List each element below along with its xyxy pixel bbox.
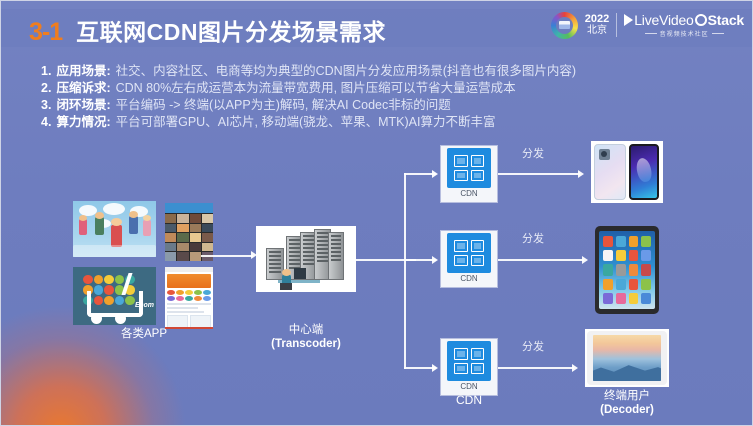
ecom-caption: Ecom xyxy=(135,302,154,309)
phone-front-view xyxy=(629,144,659,200)
operator-at-desk-figure xyxy=(278,268,320,290)
shopping-app-screenshot xyxy=(165,267,213,329)
center-label-en: (Transcoder) xyxy=(271,338,341,350)
connector-cdn3-to-device xyxy=(498,367,574,369)
ipad-body xyxy=(587,331,667,385)
tablet-image xyxy=(595,226,659,314)
connector-fanout-vertical xyxy=(404,173,406,369)
brand-stack: Stack xyxy=(708,12,744,28)
cdn-grid-icon xyxy=(447,233,491,273)
cdn-node-1[interactable]: CDN xyxy=(441,146,497,202)
bullet-key: 算力情况: xyxy=(56,114,110,131)
tablet-screen xyxy=(599,231,655,309)
bullet-key: 应用场景: xyxy=(56,63,110,80)
phone-back-view xyxy=(594,144,626,200)
ecommerce-cart-illustration: Ecom xyxy=(73,267,156,325)
section-number: 3-1 xyxy=(29,18,62,47)
bullet-value: 社交、内容社区、电商等均为典型的CDN图片分发应用场景(抖音也有很多图片内容) xyxy=(116,63,576,80)
bullet-index: 2. xyxy=(41,80,51,97)
livevideostack-logo: LiveVideo Stack 音视频技术社区 xyxy=(624,12,744,38)
bullet-index: 1. xyxy=(41,63,51,80)
app-tile-group: Ecom xyxy=(73,201,213,326)
conference-logo: 2022 北京 LiveVideo Stack 音视频技术社区 xyxy=(551,10,744,40)
arrow-cdn2-to-device xyxy=(582,256,588,264)
cdn-node-3[interactable]: CDN xyxy=(441,339,497,395)
bullet-list: 1. 应用场景: 社交、内容社区、电商等均为典型的CDN图片分发应用场景(抖音也… xyxy=(41,63,731,131)
architecture-diagram: Ecom 各类APP xyxy=(1,131,753,426)
cdn-caption: CDN xyxy=(460,189,477,198)
arrow-to-cdn-3 xyxy=(432,364,438,372)
bullet-value: 平台编码 -> 终端(以APP为主)解码, 解决AI Codec非标的问题 xyxy=(116,97,451,114)
brand-dot-icon xyxy=(695,14,707,26)
brand-sub-dash-left xyxy=(645,33,657,34)
bullet-key: 压缩诉求: xyxy=(56,80,110,97)
ipad-screen xyxy=(593,335,661,381)
distribute-label-2: 分发 xyxy=(522,230,544,246)
connector-cdn1-to-device xyxy=(498,173,580,175)
source-label: 各类APP xyxy=(89,327,199,341)
center-label-cn: 中心端 xyxy=(251,323,361,337)
bullet-item: 2. 压缩诉求: CDN 80%左右成运营本为流量带宽费用, 图片压缩可以节省大… xyxy=(41,80,731,97)
social-people-illustration xyxy=(73,201,156,257)
page-title: 3-1 互联网CDN图片分发场景需求 xyxy=(29,13,386,47)
center-label: 中心端 (Transcoder) xyxy=(251,323,361,351)
conference-city: 北京 xyxy=(587,26,607,37)
cart-wheel-left xyxy=(91,313,102,324)
conference-ring-icon xyxy=(551,12,578,39)
phone-camera-icon xyxy=(599,149,610,160)
connector-apps-to-center xyxy=(201,255,253,257)
endpoint-label-cn: 终端用户 xyxy=(579,389,675,403)
distribute-label-3: 分发 xyxy=(522,338,544,354)
cdn-grid-icon xyxy=(447,148,491,188)
arrow-cdn3-to-device xyxy=(572,364,578,372)
bullet-item: 4. 算力情况: 平台可部署GPU、AI芯片, 移动端(骁龙、苹果、MTK)AI… xyxy=(41,114,731,131)
arrow-to-cdn-1 xyxy=(432,170,438,178)
cdn-node-2[interactable]: CDN xyxy=(441,231,497,287)
smartphone-pair-image xyxy=(591,141,663,203)
bullet-key: 闭环场景: xyxy=(56,97,110,114)
connector-cdn2-to-device xyxy=(498,259,584,261)
play-triangle-icon xyxy=(624,14,633,26)
conference-year: 2022 xyxy=(585,14,609,26)
cdn-node-3-outer-label: CDN xyxy=(434,393,504,407)
ipad-image xyxy=(585,329,669,387)
title-text: 互联网CDN图片分发场景需求 xyxy=(76,13,386,47)
photo-grid-screenshot xyxy=(165,203,213,261)
arrow-to-cdn-2 xyxy=(432,256,438,264)
endpoint-label: 终端用户 (Decoder) xyxy=(579,389,675,417)
endpoint-label-en: (Decoder) xyxy=(600,404,654,416)
slide-canvas: 3-1 互联网CDN图片分发场景需求 2022 北京 LiveVideo Sta… xyxy=(0,0,753,426)
distribute-label-1: 分发 xyxy=(522,145,544,161)
bullet-index: 4. xyxy=(41,114,51,131)
brand-live: LiveVideo xyxy=(634,12,693,28)
cdn-grid-icon xyxy=(447,341,491,381)
bullet-index: 3. xyxy=(41,97,51,114)
cdn-caption: CDN xyxy=(460,274,477,283)
bullet-value: 平台可部署GPU、AI芯片, 移动端(骁龙、苹果、MTK)AI算力不断丰富 xyxy=(116,114,496,131)
cart-wheel-right xyxy=(115,313,126,324)
bullet-value: CDN 80%左右成运营本为流量带宽费用, 图片压缩可以节省大量运营成本 xyxy=(116,80,516,97)
bullet-item: 1. 应用场景: 社交、内容社区、电商等均为典型的CDN图片分发应用场景(抖音也… xyxy=(41,63,731,80)
conference-year-block: 2022 北京 xyxy=(585,14,609,36)
bullet-item: 3. 闭环场景: 平台编码 -> 终端(以APP为主)解码, 解决AI Code… xyxy=(41,97,731,114)
brand-subtitle: 音视频技术社区 xyxy=(660,29,709,38)
cdn-caption: CDN xyxy=(460,382,477,391)
transcoder-server-image xyxy=(256,226,356,292)
arrow-cdn1-to-device xyxy=(578,170,584,178)
logo-divider xyxy=(616,13,617,37)
brand-sub-dash-right xyxy=(712,33,724,34)
